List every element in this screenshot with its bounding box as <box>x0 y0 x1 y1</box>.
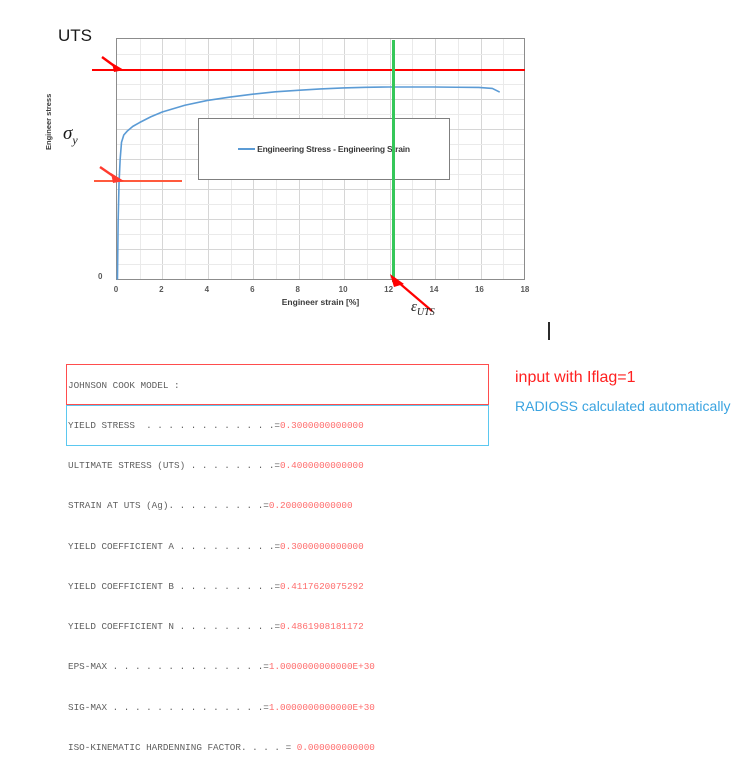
yield-sigma: σ <box>63 123 72 144</box>
row-label: ULTIMATE STRESS (UTS) <box>68 460 185 471</box>
row-value: 0.4861908181172 <box>280 621 364 632</box>
listing-row: ULTIMATE STRESS (UTS) . . . . . . . .=0.… <box>68 459 375 472</box>
row-value: 0.3000000000000 <box>280 420 364 431</box>
legend-label: Engineering Stress - Engineering Strain <box>257 144 410 154</box>
row-label: ISO-KINEMATIC HARDENNING FACTOR. <box>68 742 247 753</box>
row-value: 0.4000000000000 <box>280 460 364 471</box>
row-dots: . . . . . . . . .= <box>174 541 280 552</box>
row-label: YIELD COEFFICIENT A <box>68 541 174 552</box>
uts-arrow-icon <box>100 55 128 75</box>
chart-legend: Engineering Stress - Engineering Strain <box>198 118 450 180</box>
x-axis-label: Engineer strain [%] <box>116 297 525 307</box>
listing-row: EPS-MAX . . . . . . . . . . . . . .=1.00… <box>68 660 375 673</box>
listing-row: SIG-MAX . . . . . . . . . . . . . .=1.00… <box>68 701 375 714</box>
euts-subscript: UTS <box>417 307 435 318</box>
listing-row: YIELD COEFFICIENT B . . . . . . . . .=0.… <box>68 580 375 593</box>
row-value: 0.3000000000000 <box>280 541 364 552</box>
stress-strain-chart: Engineering Stress - Engineering Strain … <box>0 0 560 330</box>
listing-header-text: JOHNSON COOK MODEL : <box>68 380 180 391</box>
row-dots: . . . . . . . . . . . . . .= <box>107 702 269 713</box>
xtick-18: 18 <box>512 285 538 294</box>
listing-row: STRAIN AT UTS (Ag). . . . . . . . .=0.20… <box>68 499 375 512</box>
xtick-8: 8 <box>285 285 311 294</box>
xtick-10: 10 <box>330 285 356 294</box>
row-dots: . . . . . . . . . . . .= <box>135 420 280 431</box>
legend-entry: Engineering Stress - Engineering Strain <box>238 144 410 154</box>
row-label: SIG-MAX <box>68 702 107 713</box>
note-radioss-calculated: RADIOSS calculated automatically <box>515 397 731 415</box>
row-dots: . . . . . . . . .= <box>174 621 280 632</box>
listing-row: YIELD STRESS . . . . . . . . . . . .=0.3… <box>68 419 375 432</box>
row-label: YIELD STRESS <box>68 420 135 431</box>
note-input-iflag: input with Iflag=1 <box>515 369 636 387</box>
ytick-0: 0 <box>98 272 102 281</box>
euts-label: εUTS <box>411 299 435 318</box>
xtick-4: 4 <box>194 285 220 294</box>
yield-arrow-icon <box>98 164 128 186</box>
yield-stress-label: σy <box>63 123 78 148</box>
row-dots: . . . . . . . .= <box>185 460 280 471</box>
row-value: 1.0000000000000E+30 <box>269 661 375 672</box>
row-label: EPS-MAX <box>68 661 107 672</box>
row-dots: . . . . . . . . . . . . . .= <box>107 661 269 672</box>
row-label: YIELD COEFFICIENT N <box>68 621 174 632</box>
y-axis-label: Engineer stress <box>44 94 53 150</box>
xtick-6: 6 <box>239 285 265 294</box>
listing-row: ISO-KINEMATIC HARDENNING FACTOR. . . . =… <box>68 741 375 754</box>
xtick-16: 16 <box>466 285 492 294</box>
row-value: 1.0000000000000E+30 <box>269 702 375 713</box>
row-value: 0.4117620075292 <box>280 581 364 592</box>
row-dots: . . . . . . . . .= <box>174 581 280 592</box>
row-label: YIELD COEFFICIENT B <box>68 581 174 592</box>
row-value: 0.000000000000 <box>291 742 375 753</box>
euts-vertical-line <box>392 40 395 282</box>
uts-horizontal-line <box>92 69 525 71</box>
row-value: 0.2000000000000 <box>269 500 353 511</box>
xtick-2: 2 <box>148 285 174 294</box>
legend-color-swatch <box>238 148 255 150</box>
yield-subscript: y <box>72 133 77 147</box>
johnson-cook-output-listing: JOHNSON COOK MODEL : YIELD STRESS . . . … <box>68 352 375 768</box>
row-dots: . . . = <box>247 742 292 753</box>
xtick-0: 0 <box>103 285 129 294</box>
row-dots: . . . . . . . . .= <box>168 500 268 511</box>
listing-header: JOHNSON COOK MODEL : <box>68 379 375 392</box>
row-label: STRAIN AT UTS (Ag) <box>68 500 168 511</box>
uts-label: UTS <box>58 26 92 46</box>
listing-row: YIELD COEFFICIENT N . . . . . . . . .=0.… <box>68 620 375 633</box>
text-cursor <box>548 322 550 340</box>
listing-row: YIELD COEFFICIENT A . . . . . . . . .=0.… <box>68 540 375 553</box>
